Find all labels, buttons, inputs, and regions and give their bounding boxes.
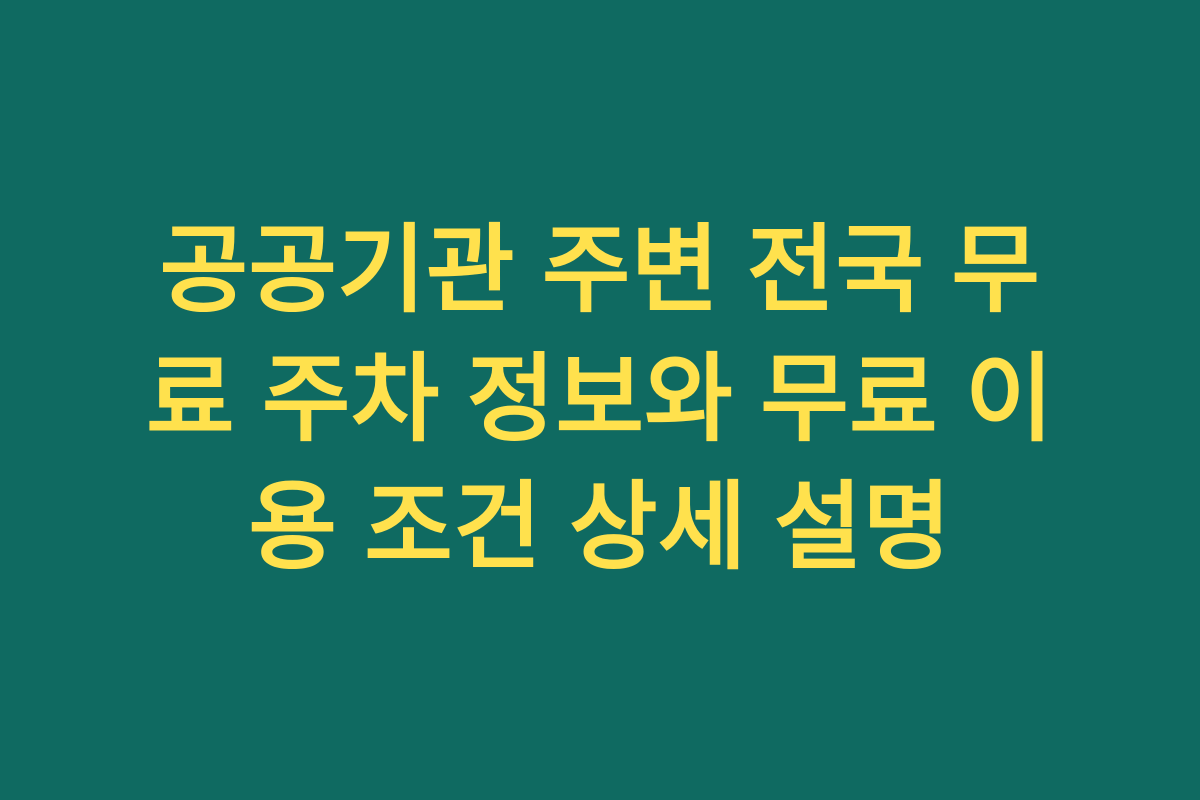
headline-line-3: 용 조건 상세 설명 — [95, 464, 1105, 593]
headline-block: 공공기관 주변 전국 무 료 주차 정보와 무료 이 용 조건 상세 설명 — [95, 207, 1105, 593]
headline-line-2: 료 주차 정보와 무료 이 — [95, 336, 1105, 465]
page-title: 공공기관 주변 전국 무 료 주차 정보와 무료 이 용 조건 상세 설명 — [95, 207, 1105, 593]
banner-canvas: 공공기관 주변 전국 무 료 주차 정보와 무료 이 용 조건 상세 설명 — [0, 0, 1200, 800]
headline-line-1: 공공기관 주변 전국 무 — [95, 207, 1105, 336]
